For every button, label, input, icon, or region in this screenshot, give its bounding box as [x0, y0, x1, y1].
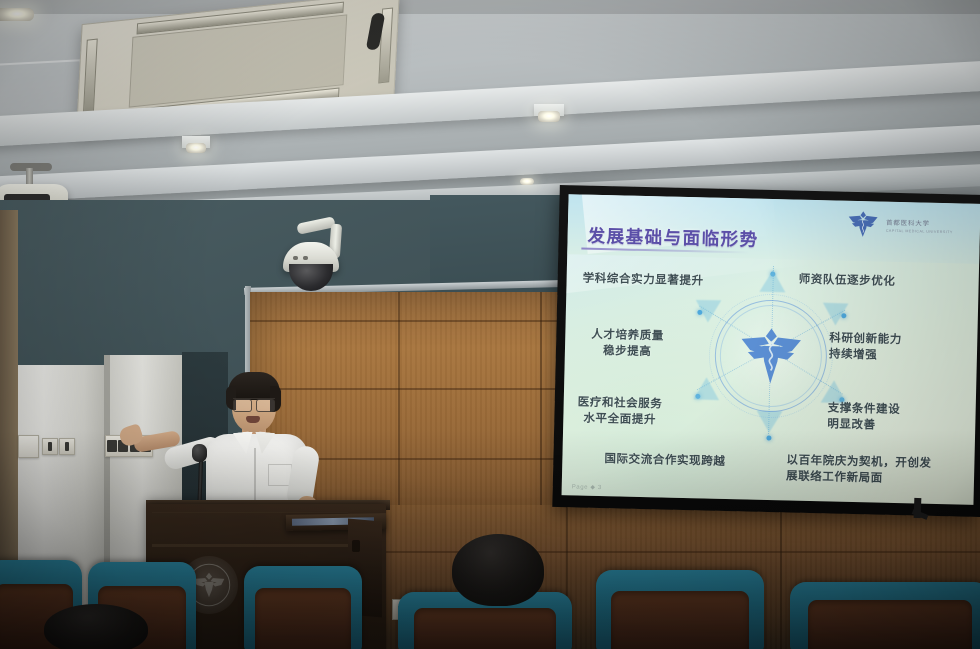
podium-latch-icon	[352, 540, 360, 552]
slide-point-base-right: 以百年院庆为契机，开创发 展联络工作新局面	[786, 451, 932, 487]
auditorium-seat[interactable]	[244, 566, 362, 649]
audience-member	[452, 534, 544, 606]
ptz-dome-camera-icon	[283, 228, 345, 294]
light-switch[interactable]	[42, 438, 58, 455]
slide-center-emblem	[714, 298, 829, 413]
light-switch[interactable]	[59, 438, 75, 455]
slide-point-mid-left: 人才培养质量 稳步提高	[591, 327, 664, 360]
ceiling-downlight	[186, 143, 206, 153]
slide-page-footer: Page ◆ 3	[572, 483, 602, 491]
ceiling-downlight	[538, 111, 560, 122]
wall-notice-plate	[18, 435, 39, 458]
lecture-hall-photo: 首都医科大学 CAPITAL MEDICAL UNIVERSITY 发展基础与面…	[0, 0, 980, 649]
slide-point-base-left: 国际交流合作实现跨越	[604, 451, 725, 469]
glasses-icon	[233, 398, 275, 410]
slide-surface: 首都医科大学 CAPITAL MEDICAL UNIVERSITY 发展基础与面…	[562, 194, 980, 505]
auditorium-seat[interactable]	[790, 582, 980, 649]
slide-point-bottom-left: 医疗和社会服务 水平全面提升	[577, 394, 662, 427]
ceiling-downlight	[0, 8, 34, 21]
auditorium-seat[interactable]	[596, 570, 764, 649]
slide-point-top-right: 师资队伍逐步优化	[799, 272, 896, 290]
slide-point-bottom-right: 支撑条件建设 明显改善	[827, 400, 900, 433]
ceiling-downlight	[520, 178, 534, 185]
ceiling	[0, 0, 980, 208]
caduceus-wings-icon	[737, 322, 805, 390]
slide-point-mid-right: 科研创新能力 持续增强	[829, 330, 902, 363]
slide-point-top-left: 学科综合实力显著提升	[582, 271, 703, 289]
projection-screen: 首都医科大学 CAPITAL MEDICAL UNIVERSITY 发展基础与面…	[552, 185, 980, 517]
microphone-icon	[192, 444, 207, 462]
audience-member	[44, 604, 148, 649]
